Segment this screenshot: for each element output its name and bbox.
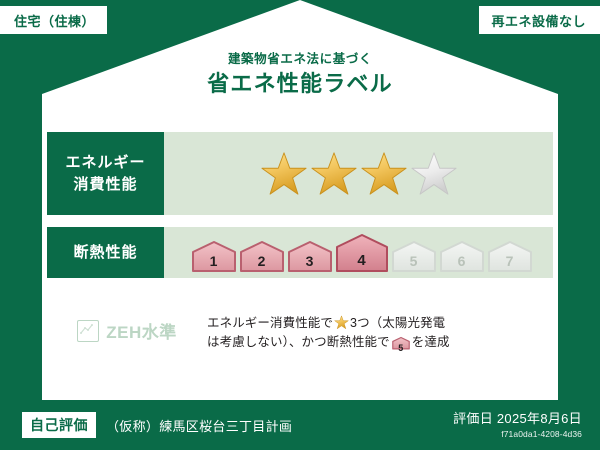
row-energy-performance-label: エネルギー 消費性能	[47, 132, 164, 215]
desc-line2-part-b: を達成	[412, 335, 450, 349]
row-energy-label-line2: 消費性能	[73, 176, 137, 193]
self-evaluation-badge: 自己評価	[22, 412, 96, 438]
row-insulation-performance-value: 1 2 3	[164, 227, 553, 278]
star-rating	[260, 150, 458, 198]
footer-right-group: 評価日 2025年8月6日 f71a0da1-4208-4d36	[453, 411, 600, 440]
achievement-description: エネルギー消費性能で3つ（太陽光発電 は考慮しない）、かつ断熱性能で5を達成	[207, 310, 553, 357]
tag-renewable-energy: 再エネ設備なし	[479, 6, 600, 34]
row-energy-performance-value	[164, 132, 553, 215]
desc-line1-part-b: 3つ（太陽光発電	[350, 316, 445, 330]
star-icon-empty-4	[410, 150, 458, 198]
star-icon-filled-3	[360, 150, 408, 198]
insulation-badge-inline-5: 5	[392, 336, 410, 356]
row-energy-label-line1: エネルギー	[65, 154, 145, 171]
footer-bar: 自己評価 （仮称）練馬区桜台三丁目計画 評価日 2025年8月6日 f71a0d…	[0, 400, 600, 450]
evaluation-date: 評価日 2025年8月6日	[453, 411, 582, 427]
tag-building-type: 住宅（住棟）	[0, 6, 107, 34]
page-title: 省エネ性能ラベル	[0, 71, 600, 97]
insulation-badge-7-value: 7	[487, 253, 533, 269]
label-title-block: 建築物省エネ法に基づく 省エネ性能ラベル	[0, 52, 600, 97]
ratings-table: エネルギー 消費性能	[47, 132, 553, 290]
star-icon-inline	[334, 315, 349, 330]
insulation-badge-5: 5	[391, 239, 437, 273]
row-energy-performance: エネルギー 消費性能	[47, 132, 553, 215]
footer-left-group: 自己評価 （仮称）練馬区桜台三丁目計画	[0, 412, 453, 438]
insulation-badge-1-value: 1	[191, 253, 237, 269]
zeh-standard-label: ZEH水準	[106, 318, 177, 343]
insulation-badge-3: 3	[287, 239, 333, 273]
row-insulation-performance-label: 断熱性能	[47, 227, 164, 278]
zeh-mark-icon	[77, 320, 99, 342]
insulation-badge-7: 7	[487, 239, 533, 273]
zeh-standard-mark: ZEH水準	[47, 310, 207, 343]
title-subtitle: 建築物省エネ法に基づく	[0, 52, 600, 67]
insulation-badge-4-value: 4	[335, 252, 389, 269]
tag-building-type-label: 住宅（住棟）	[14, 11, 95, 30]
insulation-badge-inline-5-value: 5	[392, 342, 410, 356]
desc-line2-part-a: は考慮しない）、かつ断熱性能で	[207, 335, 390, 349]
tag-renewable-energy-label: 再エネ設備なし	[491, 11, 586, 30]
insulation-badge-3-value: 3	[287, 253, 333, 269]
insulation-badge-2: 2	[239, 239, 285, 273]
star-icon-filled-1	[260, 150, 308, 198]
desc-line1-part-a: エネルギー消費性能で	[207, 316, 333, 330]
insulation-grade-scale: 1 2 3	[185, 232, 533, 273]
insulation-badge-4-achieved: 4	[335, 232, 389, 273]
zeh-description-block: ZEH水準 エネルギー消費性能で3つ（太陽光発電 は考慮しない）、かつ断熱性能で…	[47, 310, 553, 357]
star-icon-filled-2	[310, 150, 358, 198]
row-insulation-performance: 断熱性能 1 2	[47, 227, 553, 278]
insulation-badge-6: 6	[439, 239, 485, 273]
insulation-badge-6-value: 6	[439, 253, 485, 269]
insulation-badge-1: 1	[191, 239, 237, 273]
project-name-label: （仮称）練馬区桜台三丁目計画	[106, 416, 292, 435]
insulation-badge-2-value: 2	[239, 253, 285, 269]
document-id: f71a0da1-4208-4d36	[453, 429, 582, 440]
insulation-badge-5-value: 5	[391, 253, 437, 269]
